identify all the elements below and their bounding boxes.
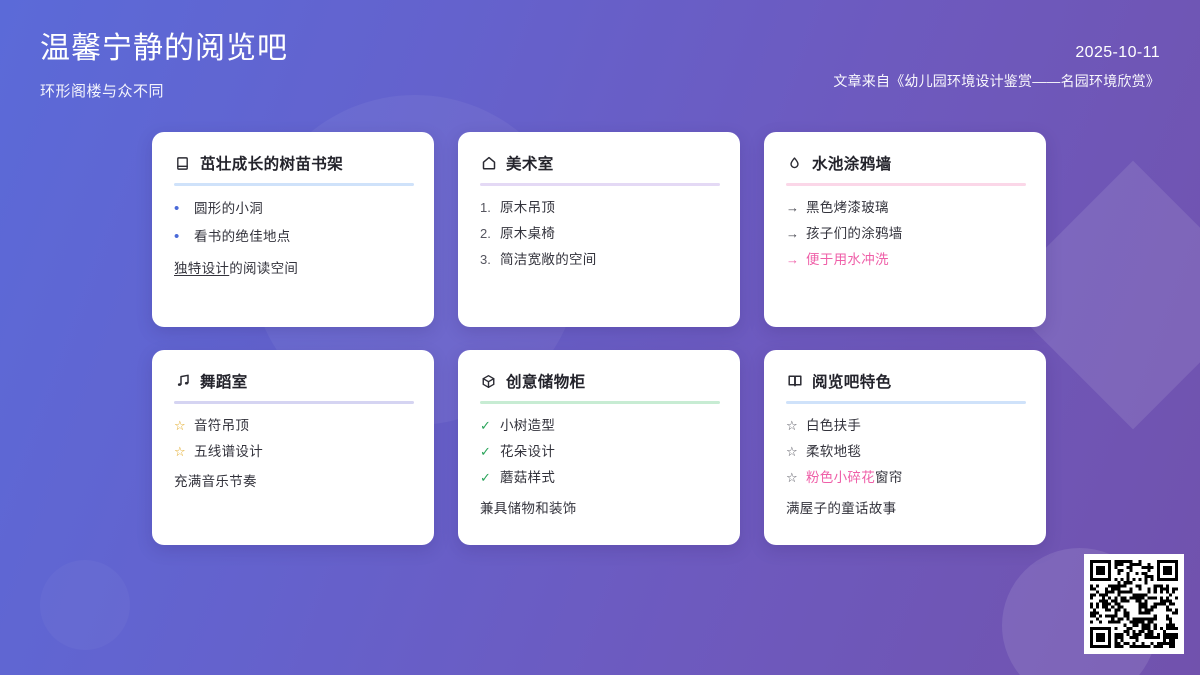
list-marker: ✓ bbox=[480, 469, 493, 487]
list-item-text: 便于用水冲洗 bbox=[806, 251, 889, 269]
list-item: →便于用水冲洗 bbox=[786, 251, 1026, 269]
card-underline bbox=[174, 183, 414, 186]
music-note-icon bbox=[174, 373, 191, 390]
list-item: ☆白色扶手 bbox=[786, 417, 1026, 435]
list-item-text: 粉色小碎花窗帘 bbox=[806, 469, 903, 487]
list-item-text: 音符吊顶 bbox=[194, 417, 249, 435]
bookmark-icon bbox=[174, 155, 191, 172]
card-list: •圆形的小洞•看书的绝佳地点 bbox=[174, 199, 414, 248]
card-header: 美术室 bbox=[480, 152, 720, 174]
card-list: 1.原木吊顶2.原木桌椅3.简洁宽敞的空间 bbox=[480, 199, 720, 270]
list-item: ✓小树造型 bbox=[480, 417, 720, 435]
highlight-text: 粉色小碎花 bbox=[806, 470, 875, 485]
qr-code-image bbox=[1090, 560, 1178, 648]
list-marker: → bbox=[786, 225, 799, 243]
card-header: 阅览吧特色 bbox=[786, 370, 1026, 392]
card-header: 茁壮成长的树苗书架 bbox=[174, 152, 414, 174]
header-source: 文章来自《幼儿园环境设计鉴赏——名园环境欣赏》 bbox=[833, 71, 1160, 91]
list-item: 3.简洁宽敞的空间 bbox=[480, 251, 720, 269]
card-grid: 茁壮成长的树苗书架•圆形的小洞•看书的绝佳地点独特设计的阅读空间美术室1.原木吊… bbox=[152, 132, 1048, 545]
list-item-text: 原木桌椅 bbox=[500, 225, 555, 243]
card-underline bbox=[786, 183, 1026, 186]
list-marker: ☆ bbox=[786, 469, 799, 487]
list-marker: ☆ bbox=[174, 417, 187, 435]
card-list: →黑色烤漆玻璃→孩子们的涂鸦墙→便于用水冲洗 bbox=[786, 199, 1026, 270]
card-title: 水池涂鸦墙 bbox=[812, 152, 892, 174]
list-item-text: 孩子们的涂鸦墙 bbox=[806, 225, 903, 243]
list-item-text: 黑色烤漆玻璃 bbox=[806, 199, 889, 217]
card[interactable]: 水池涂鸦墙→黑色烤漆玻璃→孩子们的涂鸦墙→便于用水冲洗 bbox=[764, 132, 1046, 327]
card[interactable]: 美术室1.原木吊顶2.原木桌椅3.简洁宽敞的空间 bbox=[458, 132, 740, 327]
card-underline bbox=[174, 401, 414, 404]
list-marker: ☆ bbox=[786, 443, 799, 461]
header-right-group: 2025-10-11 文章来自《幼儿园环境设计鉴赏——名园环境欣赏》 bbox=[833, 30, 1160, 91]
list-item: 1.原木吊顶 bbox=[480, 199, 720, 217]
header-left-group: 温馨宁静的阅览吧 环形阁楼与众不同 bbox=[40, 30, 288, 101]
page-subtitle: 环形阁楼与众不同 bbox=[40, 80, 288, 101]
card[interactable]: 阅览吧特色☆白色扶手☆柔软地毯☆粉色小碎花窗帘满屋子的童话故事 bbox=[764, 350, 1046, 545]
card[interactable]: 茁壮成长的树苗书架•圆形的小洞•看书的绝佳地点独特设计的阅读空间 bbox=[152, 132, 434, 327]
card-header: 水池涂鸦墙 bbox=[786, 152, 1026, 174]
card[interactable]: 舞蹈室☆音符吊顶☆五线谱设计充满音乐节奏 bbox=[152, 350, 434, 545]
list-item: 2.原木桌椅 bbox=[480, 225, 720, 243]
card-underline bbox=[480, 401, 720, 404]
list-item: ☆五线谱设计 bbox=[174, 443, 414, 461]
list-item-text: 花朵设计 bbox=[500, 443, 555, 461]
card-title: 舞蹈室 bbox=[200, 370, 248, 392]
list-marker: ✓ bbox=[480, 417, 493, 435]
card-underline bbox=[786, 401, 1026, 404]
header-date: 2025-10-11 bbox=[1075, 44, 1160, 62]
card-underline bbox=[480, 183, 720, 186]
open-book-icon bbox=[786, 373, 803, 390]
card-footer: 独特设计的阅读空间 bbox=[174, 257, 414, 277]
footer-text: 充满音乐节奏 bbox=[174, 474, 257, 489]
list-item-text: 圆形的小洞 bbox=[194, 200, 263, 218]
card-title: 美术室 bbox=[506, 152, 554, 174]
footer-text: 兼具储物和装饰 bbox=[480, 501, 577, 516]
list-item-text: 蘑菇样式 bbox=[500, 469, 555, 487]
list-item-text: 五线谱设计 bbox=[194, 443, 263, 461]
card-header: 舞蹈室 bbox=[174, 370, 414, 392]
list-item: →黑色烤漆玻璃 bbox=[786, 199, 1026, 217]
list-marker: → bbox=[786, 251, 799, 269]
list-item-text: 看书的绝佳地点 bbox=[194, 228, 291, 246]
list-item-text: 柔软地毯 bbox=[806, 443, 861, 461]
home-icon bbox=[480, 155, 497, 172]
plain-text: 窗帘 bbox=[875, 470, 903, 485]
card[interactable]: 创意储物柜✓小树造型✓花朵设计✓蘑菇样式兼具储物和装饰 bbox=[458, 350, 740, 545]
list-item: ☆粉色小碎花窗帘 bbox=[786, 469, 1026, 487]
qr-code[interactable] bbox=[1084, 554, 1184, 654]
footer-text: 的阅读空间 bbox=[229, 261, 298, 276]
card-title: 创意储物柜 bbox=[506, 370, 586, 392]
list-item: →孩子们的涂鸦墙 bbox=[786, 225, 1026, 243]
card-list: ☆白色扶手☆柔软地毯☆粉色小碎花窗帘 bbox=[786, 417, 1026, 488]
card-title: 阅览吧特色 bbox=[812, 370, 892, 392]
card-footer: 兼具储物和装饰 bbox=[480, 497, 720, 517]
list-item-text: 简洁宽敞的空间 bbox=[500, 251, 597, 269]
list-item: •看书的绝佳地点 bbox=[174, 227, 414, 247]
list-item: ✓花朵设计 bbox=[480, 443, 720, 461]
list-marker: 3. bbox=[480, 251, 493, 269]
card-footer: 充满音乐节奏 bbox=[174, 470, 414, 490]
list-item-text: 小树造型 bbox=[500, 417, 555, 435]
list-item: •圆形的小洞 bbox=[174, 199, 414, 219]
card-footer: 满屋子的童话故事 bbox=[786, 497, 1026, 517]
list-marker: • bbox=[174, 199, 187, 219]
decor-circle-tiny bbox=[40, 560, 130, 650]
slide-header: 温馨宁静的阅览吧 环形阁楼与众不同 2025-10-11 文章来自《幼儿园环境设… bbox=[0, 0, 1200, 120]
water-drop-icon bbox=[786, 155, 803, 172]
card-list: ☆音符吊顶☆五线谱设计 bbox=[174, 417, 414, 461]
list-marker: • bbox=[174, 227, 187, 247]
list-item: ☆音符吊顶 bbox=[174, 417, 414, 435]
list-marker: ✓ bbox=[480, 443, 493, 461]
card-list: ✓小树造型✓花朵设计✓蘑菇样式 bbox=[480, 417, 720, 488]
list-item: ☆柔软地毯 bbox=[786, 443, 1026, 461]
list-marker: 1. bbox=[480, 199, 493, 217]
card-header: 创意储物柜 bbox=[480, 370, 720, 392]
list-marker: 2. bbox=[480, 225, 493, 243]
page-title: 温馨宁静的阅览吧 bbox=[40, 30, 288, 68]
list-item-text: 白色扶手 bbox=[806, 417, 861, 435]
card-title: 茁壮成长的树苗书架 bbox=[200, 152, 343, 174]
cube-icon bbox=[480, 373, 497, 390]
footer-underlined-text: 独特设计 bbox=[174, 261, 229, 276]
list-marker: ☆ bbox=[786, 417, 799, 435]
list-marker: → bbox=[786, 199, 799, 217]
list-item-text: 原木吊顶 bbox=[500, 199, 555, 217]
slide-canvas: 温馨宁静的阅览吧 环形阁楼与众不同 2025-10-11 文章来自《幼儿园环境设… bbox=[0, 0, 1200, 675]
list-marker: ☆ bbox=[174, 443, 187, 461]
footer-text: 满屋子的童话故事 bbox=[786, 501, 896, 516]
list-item: ✓蘑菇样式 bbox=[480, 469, 720, 487]
